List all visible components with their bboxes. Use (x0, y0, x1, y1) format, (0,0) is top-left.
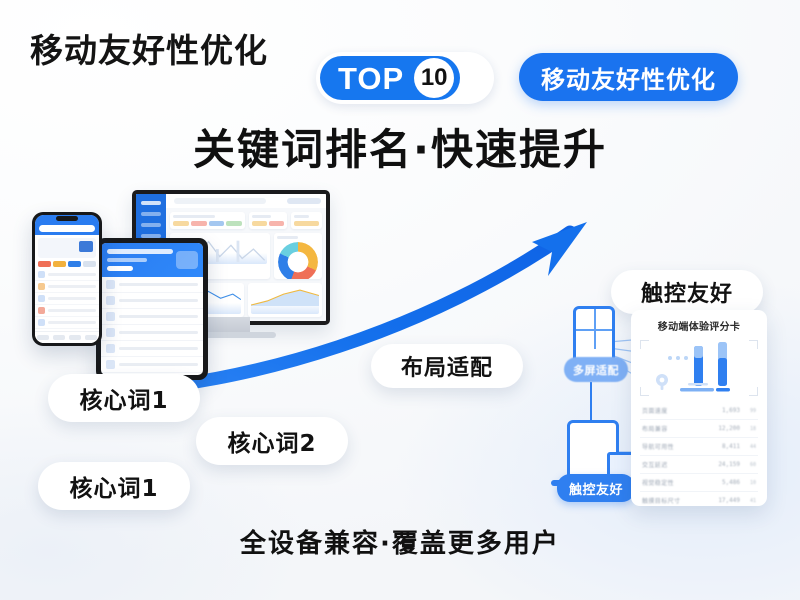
tablet-header (101, 243, 203, 277)
table-row: 视觉稳定性 5,486 10 (640, 474, 758, 492)
table-row: 交互延迟 24,159 60 (640, 456, 758, 474)
top-badge-number: 10 (414, 58, 454, 98)
tablet-mockup (96, 238, 208, 380)
row-name: 视觉稳定性 (642, 478, 712, 487)
row-delta: 10 (744, 480, 756, 486)
header-subtitle: 移动友好性优化 (30, 24, 268, 72)
row-name: 页面速度 (642, 406, 712, 415)
row-delta: 18 (744, 426, 756, 432)
keyword-pill-3[interactable]: 核心词1 (38, 462, 190, 510)
table-row: 页面速度 1,693 99 (640, 402, 758, 420)
row-delta: 99 (744, 408, 756, 414)
phone-notch (56, 216, 78, 221)
row-delta: 44 (744, 444, 756, 450)
table-row: 导航可用性 8,411 44 (640, 438, 758, 456)
phone-screen (35, 215, 99, 343)
device-mockup-group (24, 190, 354, 380)
row-value: 8,411 (716, 443, 740, 450)
score-card-rows: 页面速度 1,693 99 布局兼容 12,200 18 导航可用性 8,411… (640, 402, 758, 506)
monitor-line-chart-2 (251, 286, 319, 314)
row-value: 5,486 (716, 479, 740, 486)
keyword-pill-2[interactable]: 核心词2 (196, 417, 348, 465)
header-tag-label: 移动友好性优化 (541, 60, 716, 95)
tablet-screen (101, 243, 203, 375)
row-name: 交互延迟 (642, 460, 712, 469)
phone-promo-card (38, 238, 96, 258)
footer-tagline: 全设备兼容·覆盖更多用户 (0, 523, 800, 560)
touch-friendly-diagram-pill[interactable]: 触控友好 (557, 474, 635, 502)
top-badge-word: TOP (338, 63, 404, 94)
layout-adapt-pill[interactable]: 布局适配 (371, 344, 523, 388)
poster-canvas: 移动友好性优化 TOP 10 移动友好性优化 关键词排名·快速提升 (0, 0, 800, 600)
score-card-title: 移动端体验评分卡 (640, 318, 758, 333)
row-name: 导航可用性 (642, 442, 712, 451)
page-title: 关键词排名·快速提升 (0, 116, 800, 177)
row-value: 24,159 (716, 461, 740, 468)
score-bar-chart-icon (640, 340, 758, 396)
row-name: 布局兼容 (642, 424, 712, 433)
mobile-score-card: 移动端体验评分卡 页面速度 1 (631, 310, 767, 506)
phone-mockup (32, 212, 102, 346)
row-value: 17,449 (716, 497, 740, 504)
row-name: 触摸目标尺寸 (642, 496, 712, 505)
score-card-illustration (640, 340, 758, 396)
row-value: 1,693 (716, 407, 740, 414)
header-tag-pill: 移动友好性优化 (519, 53, 738, 101)
phone-tabbar (35, 331, 99, 343)
monitor-donut-chart (278, 242, 318, 279)
table-row: 布局兼容 12,200 18 (640, 420, 758, 438)
row-delta: 60 (744, 462, 756, 468)
row-value: 12,200 (716, 425, 740, 432)
row-delta: 41 (744, 498, 756, 504)
multi-screen-pill[interactable]: 多屏适配 (564, 357, 628, 382)
top-ranking-badge: TOP 10 (316, 52, 494, 104)
table-row: 触摸目标尺寸 17,449 41 (640, 492, 758, 506)
monitor-topbar (166, 194, 326, 209)
keyword-pill-1[interactable]: 核心词1 (48, 374, 200, 422)
top-badge-inner: TOP 10 (320, 56, 460, 100)
